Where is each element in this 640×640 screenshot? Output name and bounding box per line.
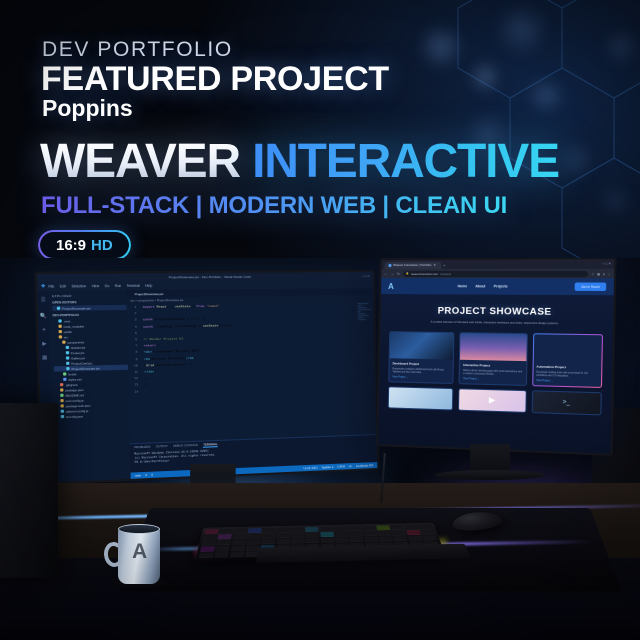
card-title: Dashboard Project	[393, 361, 451, 366]
url-input[interactable]: 🔒 weaverinteractive.dev /projects	[403, 270, 588, 276]
file-type-icon	[60, 405, 63, 408]
extensions-icon[interactable]: ▦	[42, 355, 47, 362]
bokeh-circle	[556, 140, 596, 180]
file-type-icon	[66, 367, 69, 370]
key	[199, 552, 214, 558]
key	[262, 528, 275, 533]
key	[320, 532, 333, 537]
key	[276, 539, 289, 544]
key	[364, 537, 378, 542]
key	[378, 531, 392, 536]
profile-icon[interactable]: ●	[603, 271, 605, 275]
key	[350, 537, 364, 542]
vscode-window-title: ProjectShowcase.jsx - Dev-Portfolio - Vi…	[169, 275, 252, 280]
browser-tab-title: Weaver Interactive | Portfolio	[393, 263, 431, 267]
eyebrow-label: DEV PORTFOLIO	[42, 38, 233, 62]
file-type-icon	[66, 362, 69, 365]
status-spaces[interactable]: Spaces: 2	[322, 465, 334, 469]
source-control-icon[interactable]: ⚭	[42, 327, 47, 333]
card-desc: Developer tooling suite with a terminal …	[536, 370, 598, 378]
file-type-icon	[66, 346, 69, 349]
brand-subtitle: FULL-STACK | MODERN WEB | CLEAN UI	[41, 192, 507, 220]
editor-main: ProjectShowcase.jsx src > components > P…	[126, 288, 377, 479]
key	[291, 527, 304, 532]
file-type-icon	[59, 336, 62, 339]
file-tree-label: Gallery.jsx	[71, 356, 85, 361]
key	[405, 525, 419, 530]
forward-icon[interactable]: →	[391, 271, 394, 275]
key	[320, 527, 333, 532]
terminal-tab-debug[interactable]: DEBUG CONSOLE	[173, 444, 198, 449]
aspect-ratio-badge: 16:9 HD	[38, 230, 131, 260]
browser-window: Weaver Interactive | Portfolio ✕ + ─ □ ✕…	[378, 259, 614, 453]
card-link[interactable]: View Project →	[392, 375, 450, 379]
file-type-icon	[63, 373, 66, 376]
site-logo-icon[interactable]: A	[388, 282, 394, 291]
file-tree-label: README.md	[65, 393, 84, 398]
brand-title-word1: WEAVER	[40, 135, 240, 188]
bokeh-circle	[528, 78, 564, 114]
minimap[interactable]	[358, 303, 372, 325]
desk-scene: ProjectShowcase.jsx - Dev-Portfolio - Vi…	[0, 258, 640, 640]
poster-canvas: DEV PORTFOLIO FEATURED PROJECT Poppins W…	[0, 0, 640, 640]
card-thumbnail	[533, 334, 602, 362]
website-page: A Home About Projects Get in Touch PROJE…	[378, 278, 614, 454]
menu-kebab-icon[interactable]: ⋮	[607, 271, 610, 275]
card-link[interactable]: View Project →	[463, 377, 523, 382]
brand-title: WEAVER INTERACTIVE	[40, 138, 559, 186]
key	[218, 534, 232, 539]
editor-tab-active[interactable]: ProjectShowcase.jsx	[129, 290, 169, 297]
file-type-icon	[60, 389, 63, 392]
key	[277, 533, 290, 538]
menu-help[interactable]: Help	[145, 284, 152, 288]
key	[390, 525, 404, 530]
favicon-icon	[388, 264, 391, 267]
file-tree-label: styles.css	[68, 377, 82, 382]
status-left[interactable]: main 0 0	[135, 473, 153, 477]
key	[419, 524, 433, 529]
file-tree-label: Header.jsx	[71, 345, 86, 350]
file-type-icon	[58, 325, 61, 328]
file-tree-label: components	[67, 340, 84, 345]
card-desc: Responsive analytics dashboard built wit…	[392, 367, 450, 375]
key	[291, 533, 304, 538]
key	[376, 525, 390, 530]
file-tree-label: package-lock.json	[66, 403, 91, 408]
terminal-tab-problems[interactable]: PROBLEMS	[134, 446, 150, 451]
key	[349, 531, 363, 536]
card-link[interactable]: View Project →	[536, 379, 598, 384]
bokeh-circle	[496, 4, 548, 56]
badge-ratio-label: 16:9	[56, 237, 86, 254]
key	[306, 532, 319, 537]
brand-title-word2: INTERACTIVE	[252, 135, 559, 188]
star-icon[interactable]: ☆	[591, 271, 594, 275]
project-card-featured[interactable]: Automation Project Developer tooling sui…	[532, 333, 603, 388]
card-title: Interactive Project	[463, 363, 523, 368]
site-navbar: A Home About Projects Get in Touch	[381, 278, 614, 295]
mug-logo-letter: A	[132, 540, 147, 564]
key	[363, 531, 377, 536]
key	[420, 530, 435, 535]
back-icon[interactable]: ←	[384, 271, 387, 275]
key	[334, 526, 347, 531]
project-card[interactable]	[388, 386, 454, 410]
open-editor-label: ProjectShowcase.jsx	[62, 306, 91, 311]
file-tree-label: Footer.jsx	[71, 350, 85, 355]
badge-quality-label: HD	[91, 237, 113, 254]
reload-icon[interactable]: ↻	[397, 271, 400, 275]
status-right[interactable]: Ln 14, Col 1 Spaces: 2 UTF-8 LF JavaScri…	[304, 464, 374, 470]
page-title: FEATURED PROJECT	[41, 60, 389, 99]
key	[393, 536, 407, 541]
browser-chrome: Weaver Interactive | Portfolio ✕ + ─ □ ✕…	[381, 259, 614, 278]
card-body: Automation Project Developer tooling sui…	[533, 361, 601, 387]
status-encoding[interactable]: UTF-8	[337, 465, 344, 468]
file-tree-label: node_modules	[64, 324, 84, 329]
key	[362, 526, 376, 531]
file-type-icon	[61, 410, 64, 413]
key	[261, 539, 275, 544]
nav-link-projects[interactable]: Projects	[494, 284, 508, 288]
file-type-icon	[61, 415, 64, 418]
browser-tab[interactable]: Weaver Interactive | Portfolio ✕	[384, 262, 441, 269]
url-text: weaverinteractive.dev	[411, 271, 438, 275]
status-branch[interactable]: main	[135, 474, 141, 477]
card-title: Automation Project	[536, 364, 598, 370]
card-body: Interactive Project Motion-driven landin…	[460, 360, 526, 385]
bokeh-circle	[600, 186, 630, 216]
status-eol[interactable]: LF	[349, 465, 352, 468]
file-type-icon	[58, 320, 61, 323]
card-body: Dashboard Project Responsive analytics d…	[389, 358, 453, 383]
key	[277, 527, 290, 532]
key	[247, 534, 261, 539]
key	[422, 535, 437, 540]
explorer-sidebar[interactable]: EXPLORER OPEN EDITORS ProjectShowcase.js…	[49, 290, 131, 482]
key	[306, 527, 319, 532]
file-tree-label: hooks	[68, 372, 76, 376]
file-tree-label: tsconfig.json	[66, 414, 83, 419]
desktop-speaker	[0, 403, 58, 578]
bokeh-circle	[418, 24, 464, 70]
key	[219, 529, 233, 534]
key	[230, 552, 245, 558]
key	[232, 540, 246, 545]
file-type-icon	[66, 357, 69, 360]
card-desc: Motion-driven landing page with scroll a…	[463, 368, 523, 376]
browser-window-controls[interactable]: ─ □ ✕	[602, 261, 611, 265]
vscode-body: 🗎 🔍 ⚭ ▶ ▦ EXPLORER OPEN EDITORS ProjectS…	[37, 288, 377, 483]
file-tree-label: ProjectCard.jsx	[71, 361, 92, 366]
file-type-icon	[60, 383, 63, 386]
key	[408, 536, 423, 541]
menu-run[interactable]: Run	[115, 284, 122, 288]
menu-edit[interactable]: Edit	[60, 284, 66, 288]
hero-heading: PROJECT SHOWCASE	[381, 305, 614, 319]
explorer-header: EXPLORER	[52, 293, 126, 298]
key	[262, 533, 275, 538]
file-tree-label: src	[64, 335, 68, 339]
browser-toolbar-icons[interactable]: ☆ ▦ ● ⋮	[591, 271, 611, 275]
key	[379, 536, 393, 541]
project-card[interactable]: ▶	[458, 388, 526, 413]
key	[321, 538, 335, 543]
search-icon[interactable]: 🔍	[40, 313, 47, 319]
key	[203, 535, 217, 540]
key	[214, 552, 229, 558]
font-name-label: Poppins	[42, 95, 133, 122]
menu-view[interactable]: View	[92, 284, 100, 288]
mug-rim	[118, 524, 160, 534]
file-tree-label: ProjectShowcase.jsx	[71, 366, 100, 371]
section-open-editors[interactable]: OPEN EDITORS	[52, 300, 126, 305]
status-errors[interactable]: 0	[145, 473, 147, 476]
line-number: 14	[128, 388, 138, 395]
project-card[interactable]: >_	[531, 390, 602, 415]
code-area[interactable]: 1234567891011121314 import React, { useS…	[126, 301, 376, 443]
cta-button[interactable]: Get in Touch	[575, 283, 606, 291]
menu-selection[interactable]: Selection	[71, 284, 86, 288]
project-card-grid: Dashboard Project Responsive analytics d…	[379, 324, 613, 388]
debug-icon[interactable]: ▶	[42, 341, 46, 347]
code-lines[interactable]: import React, { useState } from 'react';…	[139, 301, 376, 443]
key	[392, 530, 406, 535]
key	[247, 539, 261, 544]
lock-icon: 🔒	[406, 272, 409, 275]
key	[215, 546, 230, 552]
file-icon	[57, 307, 60, 310]
key	[233, 528, 247, 533]
project-card[interactable]: Interactive Project Motion-driven landin…	[459, 332, 528, 386]
key	[335, 537, 349, 542]
site-nav-links[interactable]: Home About Projects	[457, 284, 507, 288]
status-warnings[interactable]: 0	[151, 473, 153, 476]
menu-terminal[interactable]: Terminal	[127, 284, 140, 288]
key	[306, 538, 320, 543]
file-tree-label: .gitignore	[65, 382, 78, 387]
menu-file[interactable]: File	[48, 284, 54, 288]
project-card[interactable]: Dashboard Project Responsive analytics d…	[388, 331, 454, 384]
key	[217, 540, 231, 545]
file-tree-label: tailwind.config.js	[66, 408, 89, 413]
file-tree-label: .next	[63, 319, 70, 323]
key	[202, 540, 217, 545]
card-thumbnail	[460, 333, 526, 361]
file-type-icon	[60, 399, 63, 402]
url-path: /projects	[440, 271, 451, 275]
monitor-code-editor: ProjectShowcase.jsx - Dev-Portfolio - Vi…	[35, 270, 380, 485]
vscode-window: ProjectShowcase.jsx - Dev-Portfolio - Vi…	[37, 272, 377, 483]
key	[248, 528, 261, 533]
bokeh-circle	[470, 62, 500, 92]
monitor-browser: Weaver Interactive | Portfolio ✕ + ─ □ ✕…	[376, 258, 616, 456]
open-editor-item[interactable]: ProjectShowcase.jsx	[52, 305, 126, 311]
key	[233, 534, 247, 539]
key	[200, 546, 215, 552]
terminal-tab-output[interactable]: OUTPUT	[156, 445, 168, 450]
key	[231, 546, 245, 551]
status-language[interactable]: JavaScript JSX	[356, 464, 374, 468]
file-type-icon	[66, 351, 69, 354]
file-tree-label: public	[64, 329, 72, 333]
browser-tabstrip[interactable]: Weaver Interactive | Portfolio ✕ + ─ □ ✕	[382, 259, 615, 269]
terminal-icon: >_	[563, 399, 570, 405]
close-icon[interactable]: ✕	[433, 263, 436, 267]
terminal-tab-terminal[interactable]: TERMINAL	[203, 443, 217, 448]
nav-link-about[interactable]: About	[475, 284, 485, 288]
menu-go[interactable]: Go	[105, 284, 110, 288]
bokeh-circle	[604, 30, 638, 64]
key	[204, 529, 218, 534]
file-type-icon	[59, 330, 62, 333]
nav-link-home[interactable]: Home	[457, 284, 467, 288]
files-icon[interactable]: 🗎	[41, 297, 46, 306]
file-type-icon	[60, 394, 63, 397]
key	[335, 532, 349, 537]
file-tree-label: package.json	[65, 387, 83, 392]
file-tree-label: next.config.js	[65, 398, 83, 403]
file-tree[interactable]: .nextnode_modulespublicsrccomponentsHead…	[53, 317, 129, 419]
browser-addressbar: ← → ↻ 🔒 weaverinteractive.dev /projects …	[381, 269, 614, 279]
key	[406, 530, 420, 535]
file-type-icon	[63, 378, 66, 381]
key	[291, 538, 304, 543]
key	[348, 526, 362, 531]
new-tab-button[interactable]: +	[443, 263, 445, 269]
window-controls[interactable]: ─ □ ✕	[361, 274, 369, 278]
card-thumbnail	[390, 332, 454, 359]
file-type-icon	[62, 341, 65, 344]
vscode-logo-icon: ❖	[41, 283, 46, 289]
extensions-puzzle-icon[interactable]: ▦	[597, 271, 600, 275]
monitor-browser-base	[435, 470, 545, 480]
status-cursor[interactable]: Ln 14, Col 1	[304, 466, 318, 470]
play-icon[interactable]: ▶	[489, 396, 496, 405]
